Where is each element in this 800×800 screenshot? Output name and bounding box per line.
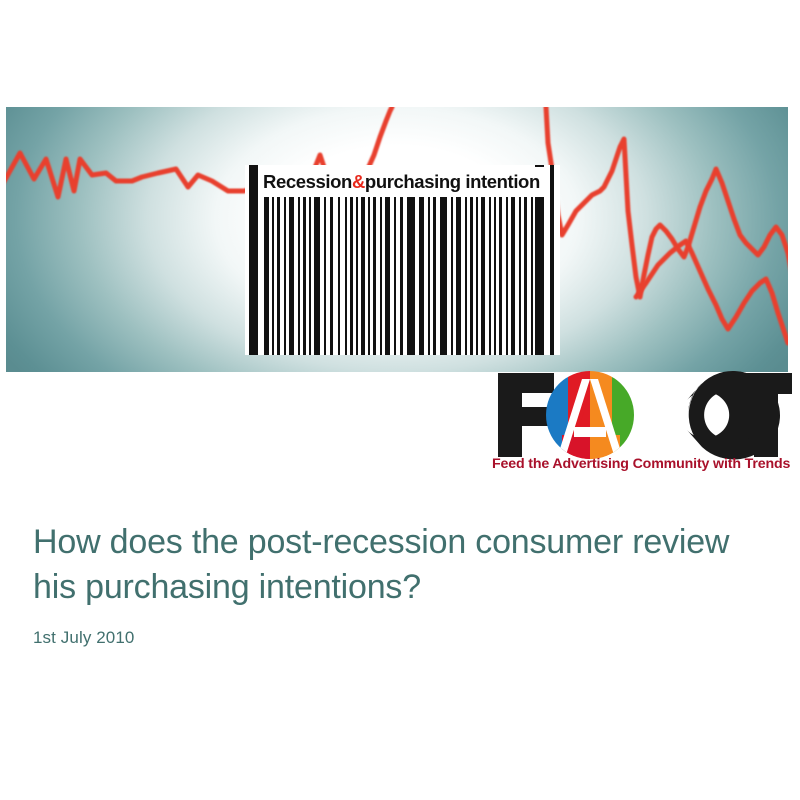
fact-logo-mark [492, 369, 792, 461]
barcode-guard-right-thin [550, 165, 554, 355]
trend-line-right-tail [636, 241, 788, 343]
title-block: How does the post-recession consumer rev… [33, 520, 763, 648]
logo-letter-t-stem [754, 389, 776, 457]
hero-banner: Recession & purchasing intention [6, 107, 788, 372]
barcode-title-prefix: Recession [263, 173, 352, 192]
presentation-slide: Recession & purchasing intention [0, 0, 800, 800]
barcode-title-suffix: purchasing intention [365, 173, 540, 192]
barcode-bars [263, 195, 545, 355]
barcode-title-label: Recession & purchasing intention [263, 167, 545, 197]
barcode-graphic: Recession & purchasing intention [245, 165, 560, 355]
barcode-title-ampersand: & [352, 173, 365, 192]
logo-letter-f [498, 373, 554, 457]
fact-logo: Feed the Advertising Community with Tren… [492, 369, 792, 481]
page-title: How does the post-recession consumer rev… [33, 520, 763, 610]
logo-circle-mark [546, 371, 636, 461]
logo-tagline: Feed the Advertising Community with Tren… [492, 456, 792, 472]
barcode-guard-left [249, 165, 258, 355]
trend-line-right [546, 107, 788, 335]
slide-date: 1st July 2010 [33, 628, 763, 648]
